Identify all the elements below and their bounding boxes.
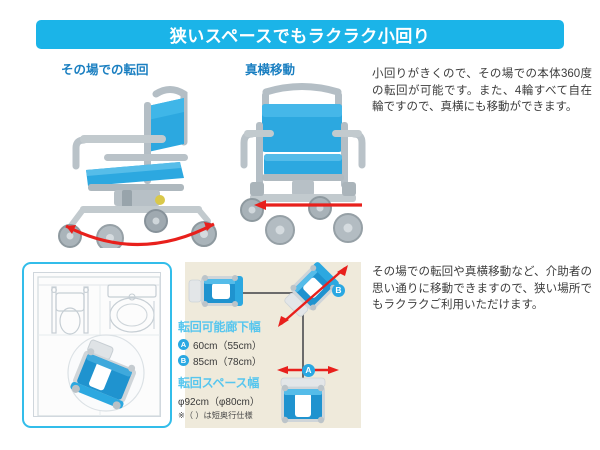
spec-value-b: 85cm（78cm） <box>193 353 262 368</box>
floorplan-illustration <box>34 273 164 420</box>
spec-marker-a: A <box>178 339 189 350</box>
floorplan-room <box>33 272 161 417</box>
banner-title: 狭いスペースでもラクラク小回り <box>170 22 430 47</box>
description-bottom-right: その場での転回や真横移動など、介助者の思い通りに移動できますので、狭い場所でもラ… <box>372 264 592 314</box>
spec-note: ※（ ）は短奥行仕様 <box>178 409 298 421</box>
spec-block: 転回可能廊下幅 A 60cm（55cm） B 85cm（78cm） 転回スペース… <box>178 318 298 421</box>
spec-value-a: 60cm（55cm） <box>193 337 262 352</box>
caption-sideways-move: 真横移動 <box>245 59 295 78</box>
diagram-marker-b: B <box>332 284 345 297</box>
photo-chair-front-view <box>228 78 378 248</box>
description-top-right: 小回りがきくので、その場での本体360度の転回が可能です。また、4輪すべて自在輪… <box>372 66 592 116</box>
diagram-marker-a: A <box>302 364 315 377</box>
chair-front-view-illustration <box>228 78 378 248</box>
photo-chair-side-view <box>52 78 227 248</box>
caption-rotate-in-place: その場での転回 <box>61 59 149 78</box>
spec-row-b: B 85cm（78cm） <box>178 353 298 368</box>
floorplan-card <box>22 262 172 428</box>
spec-heading-corridor: 転回可能廊下幅 <box>178 318 298 335</box>
header-banner: 狭いスペースでもラクラク小回り <box>36 20 564 49</box>
chair-side-view-illustration <box>52 78 227 248</box>
spec-diameter-value: φ92cm（φ80cm） <box>178 393 298 408</box>
chair-topview-left <box>189 275 243 307</box>
spec-row-a: A 60cm（55cm） <box>178 337 298 352</box>
spec-heading-space: 転回スペース幅 <box>178 374 298 391</box>
spec-marker-b: B <box>178 355 189 366</box>
